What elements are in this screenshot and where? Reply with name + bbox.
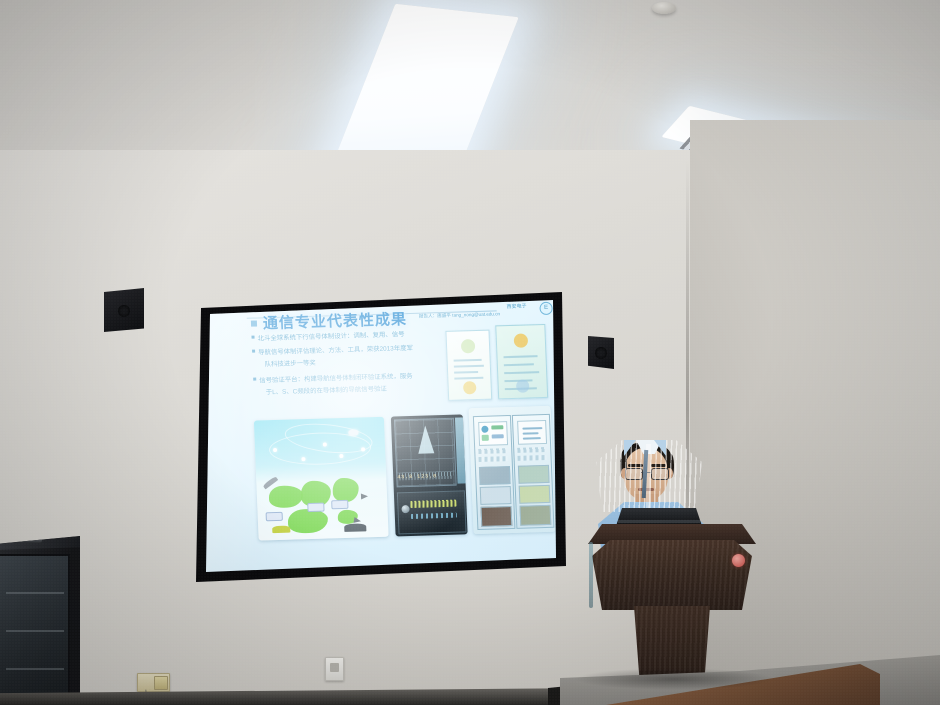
rack-shelf — [479, 456, 508, 462]
certificate-line — [454, 371, 478, 373]
ship-icon — [272, 526, 290, 534]
equipment-rack — [473, 415, 516, 530]
display-chip — [491, 425, 503, 429]
aircraft-icon — [361, 493, 368, 499]
ship-icon — [344, 523, 366, 532]
cabinet-shelf — [6, 592, 64, 594]
rack-module — [519, 485, 551, 504]
podium-shadow — [574, 668, 774, 690]
display-chip — [482, 435, 489, 441]
title-marker-icon — [251, 320, 257, 326]
bullet-marker-icon — [253, 378, 256, 381]
smoke-detector-icon — [652, 2, 676, 14]
rack-shelf — [478, 448, 507, 454]
certificate-seal-icon — [514, 333, 529, 347]
projection-screen: 通信专业代表性成果 报告人：唐盛平 tang_nong@uat.edu.cn 西… — [206, 300, 556, 572]
instrument-meter — [411, 513, 457, 519]
slide-bullet-2: 导航信号体制评估理论、方法、工具，荣获2013年度军 — [252, 344, 413, 358]
podium-emblem-icon — [732, 554, 745, 567]
equipment-racks — [469, 406, 556, 534]
shirt-collar — [654, 440, 666, 456]
continent-shape — [332, 478, 359, 503]
slide-bullet-3-cont: 于L、S、C频段的在导体制的导航信号验证 — [266, 385, 387, 398]
instrument-knob-icon — [401, 505, 409, 513]
podium — [588, 524, 756, 684]
display-line — [523, 437, 541, 440]
cabinet-shelf — [6, 630, 64, 632]
shirt-collar — [624, 440, 636, 456]
spectrum-analyzer: 43.8 123.0 — [391, 414, 468, 536]
bullet-text: 北斗全球系统下行信号体制设计：调制、复用、信号 — [257, 331, 404, 342]
satellite-icon — [323, 442, 327, 446]
rack-shelf — [518, 455, 547, 461]
bullet-text: 信号验证平台：构建导航信号体制闭环验证系统，服务 — [259, 373, 413, 385]
bullet-marker-icon — [251, 336, 254, 339]
certificate-line — [454, 365, 484, 367]
satellite-icon — [348, 430, 358, 436]
certificate-line — [503, 355, 537, 358]
rack-module — [481, 506, 513, 527]
speaker-cone-icon — [595, 347, 607, 359]
bullet-text: 导航信号体制评估理论、方法、工具，荣获2013年度军 — [258, 345, 413, 357]
instrument-meter — [410, 500, 456, 508]
wall-speaker-left-icon — [104, 288, 144, 332]
satellite-navigation-map — [254, 417, 389, 541]
instrument-panel — [397, 490, 467, 534]
speaker-cone-icon — [118, 305, 130, 317]
satellite-icon — [361, 447, 365, 451]
wall-switch[interactable] — [325, 657, 344, 681]
certificate-line — [504, 371, 539, 374]
display-chip — [481, 426, 488, 433]
laptop[interactable] — [616, 508, 702, 526]
map-label-box — [331, 500, 348, 509]
continent-shape — [287, 508, 328, 533]
rack-module — [480, 486, 512, 505]
presentation-room-photo: 通信专业代表性成果 报告人：唐盛平 tang_nong@uat.edu.cn 西… — [0, 0, 940, 705]
certificate-badge-icon — [463, 381, 477, 394]
slide-bullet-2-cont: 队科技进步一等奖 — [264, 359, 315, 370]
slide-corner-logo: 西安电子 — [506, 302, 526, 310]
slide-title: 通信专业代表性成果 — [263, 308, 408, 333]
analyzer-sidebar — [455, 417, 467, 483]
certificate-seal-icon — [461, 339, 476, 353]
certificate-line — [504, 363, 534, 365]
slide-corner-mark: E — [539, 302, 553, 315]
wall-speaker-right-icon — [588, 336, 614, 369]
laptop-lid-edge — [618, 520, 700, 523]
satellite-icon — [301, 457, 305, 461]
signal-peak — [417, 425, 434, 453]
cabinet-shelf — [6, 668, 64, 670]
podium-body — [592, 540, 752, 610]
switch-rocker-icon — [330, 663, 339, 672]
analyzer-readout: 43.8 123.0 — [397, 473, 449, 484]
display-line — [522, 427, 542, 430]
certificate-badge-icon — [516, 379, 530, 392]
display-chip — [492, 434, 504, 438]
continent-shape — [269, 485, 304, 508]
equipment-cabinet-left — [0, 536, 80, 705]
award-certificate-left — [445, 330, 492, 401]
bullet-marker-icon — [252, 350, 255, 353]
slide-bullet-3: 信号验证平台：构建导航信号体制闭环验证系统，服务 — [253, 372, 413, 386]
certificate-line — [454, 359, 482, 361]
award-certificate-right — [495, 324, 548, 399]
certificate-line — [454, 377, 483, 379]
rack-display — [478, 421, 508, 446]
satellite-icon — [339, 454, 343, 458]
map-label-box — [307, 503, 324, 512]
satellite-icon — [273, 448, 277, 452]
cabinet-glass-door — [0, 554, 70, 703]
rack-module — [520, 505, 552, 526]
slide-content: 通信专业代表性成果 报告人：唐盛平 tang_nong@uat.edu.cn 西… — [206, 300, 556, 572]
podium-edge-light — [589, 542, 593, 608]
equipment-rack — [512, 414, 555, 529]
rack-display — [517, 420, 547, 445]
rack-shelf — [517, 447, 546, 453]
slide-contact-line: 报告人：唐盛平 tang_nong@uat.edu.cn — [419, 311, 500, 319]
display-line — [523, 432, 539, 434]
rack-module — [518, 465, 550, 484]
rack-module — [479, 466, 511, 485]
map-label-box — [266, 512, 283, 521]
